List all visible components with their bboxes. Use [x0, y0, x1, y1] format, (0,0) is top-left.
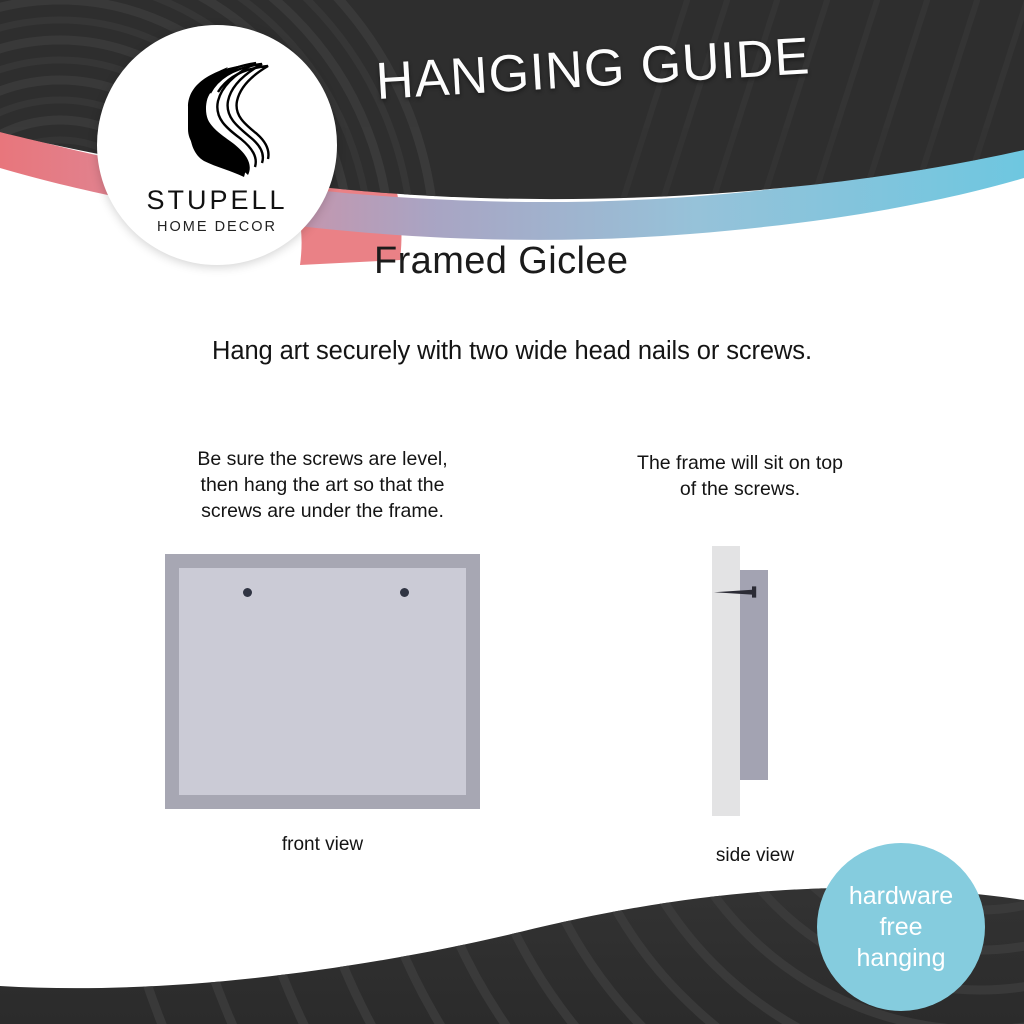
front-view-caption: Be sure the screws are level, then hang …	[150, 446, 495, 524]
front-caption-line-2: then hang the art so that the	[150, 472, 495, 498]
brand-name: STUPELL	[146, 185, 287, 216]
page-title: HANGING GUIDE	[374, 26, 812, 112]
hanging-guide-page: STUPELL HOME DECOR HANGING GUIDE Framed …	[0, 0, 1024, 1024]
frame-profile	[740, 570, 768, 780]
badge-line-2: free	[879, 912, 922, 943]
stupell-swoosh-logo-icon	[152, 55, 282, 183]
badge-line-1: hardware	[849, 881, 953, 912]
screw-dot-icon-right	[400, 588, 409, 597]
side-view-caption: The frame will sit on top of the screws.	[590, 450, 890, 502]
product-type-label: Framed Giclee	[374, 240, 628, 283]
front-caption-line-3: screws are under the frame.	[150, 498, 495, 524]
side-view-diagram	[700, 546, 810, 816]
side-caption-line-1: The frame will sit on top	[590, 450, 890, 476]
brand-tagline: HOME DECOR	[157, 219, 277, 235]
side-caption-line-2: of the screws.	[590, 476, 890, 502]
front-view-frame-diagram	[165, 554, 480, 809]
badge-line-3: hanging	[857, 943, 946, 974]
front-caption-line-1: Be sure the screws are level,	[150, 446, 495, 472]
nail-icon	[714, 586, 764, 598]
hardware-free-hanging-badge: hardware free hanging	[817, 843, 985, 1011]
frame-mat-area	[179, 568, 466, 795]
brand-logo-badge: STUPELL HOME DECOR	[97, 25, 337, 265]
front-view-label: front view	[165, 834, 480, 856]
side-view-label: side view	[645, 845, 865, 867]
screw-dot-icon-left	[243, 588, 252, 597]
main-instruction-text: Hang art securely with two wide head nai…	[0, 337, 1024, 366]
